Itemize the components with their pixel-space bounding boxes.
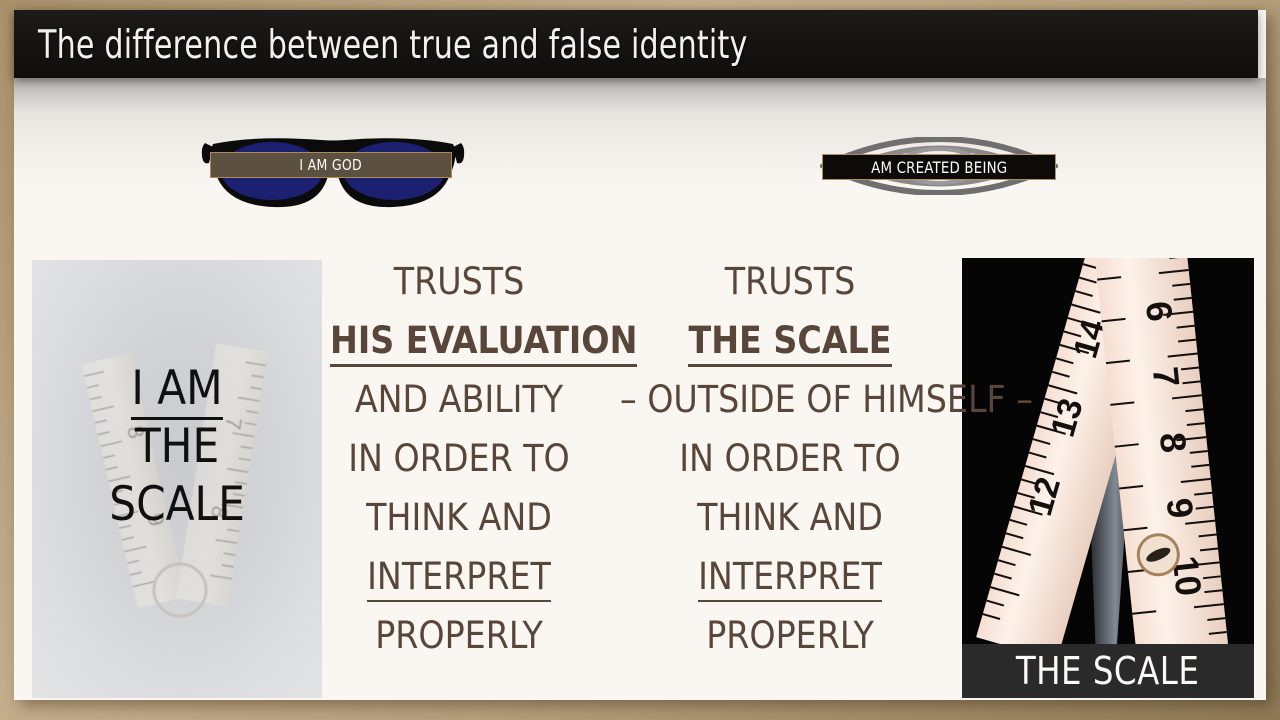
eye-graphic: AM CREATED BEING [820, 137, 1058, 195]
overlay-line-text: I AM [131, 361, 222, 420]
left-photo-overlay-text: I AM THE SCALE [32, 360, 322, 534]
overlay-line-text: THE [135, 419, 219, 474]
svg-text:6: 6 [1138, 299, 1181, 323]
right-photo-caption-label: THE SCALE [1016, 649, 1199, 693]
eye-banner-label: AM CREATED BEING [871, 158, 1007, 177]
column-line: – OUTSIDE OF HIMSELF – [620, 370, 960, 429]
column-line: TRUSTS [620, 252, 960, 311]
svg-text:7: 7 [1145, 365, 1188, 389]
column-line: AND ABILITY [330, 370, 588, 429]
right-photo-panel: 15 14 13 12 [962, 258, 1254, 698]
sunglasses-banner: I AM GOD [210, 152, 452, 178]
svg-text:9: 9 [1159, 496, 1202, 520]
column-line: TRUSTS [330, 252, 588, 311]
overlay-line-text: SCALE [109, 477, 245, 532]
left-photo-panel: 8 9 7 8 [32, 260, 322, 698]
eye-banner: AM CREATED BEING [822, 154, 1056, 180]
page-title: The difference between true and false id… [38, 24, 748, 68]
overlay-line: I AM [32, 360, 322, 418]
overlay-line: THE [32, 418, 322, 476]
sunglasses-banner-label: I AM GOD [300, 156, 363, 174]
overlay-line: SCALE [32, 476, 322, 534]
column-line: PROPERLY [330, 606, 588, 665]
column-line: THINK AND [330, 488, 588, 547]
svg-text:8: 8 [1152, 430, 1195, 454]
presentation-slide: The difference between true and false id… [0, 0, 1280, 720]
sunglasses-graphic: I AM GOD [197, 129, 469, 211]
right-photo-caption: THE SCALE [962, 644, 1254, 698]
false-identity-column: TRUSTS HIS EVALUATION AND ABILITY IN ORD… [330, 252, 588, 665]
column-line: HIS EVALUATION [330, 311, 588, 370]
crossed-measuring-tapes-image: 15 14 13 12 [962, 258, 1254, 698]
column-line: IN ORDER TO [330, 429, 588, 488]
column-line: INTERPRET [620, 547, 960, 606]
column-line: THINK AND [620, 488, 960, 547]
true-identity-column: TRUSTS THE SCALE – OUTSIDE OF HIMSELF – … [620, 252, 960, 665]
column-line: THE SCALE [620, 311, 960, 370]
slide-title-bar: The difference between true and false id… [14, 10, 1258, 78]
column-line: INTERPRET [330, 547, 588, 606]
column-line: PROPERLY [620, 606, 960, 665]
column-line: IN ORDER TO [620, 429, 960, 488]
